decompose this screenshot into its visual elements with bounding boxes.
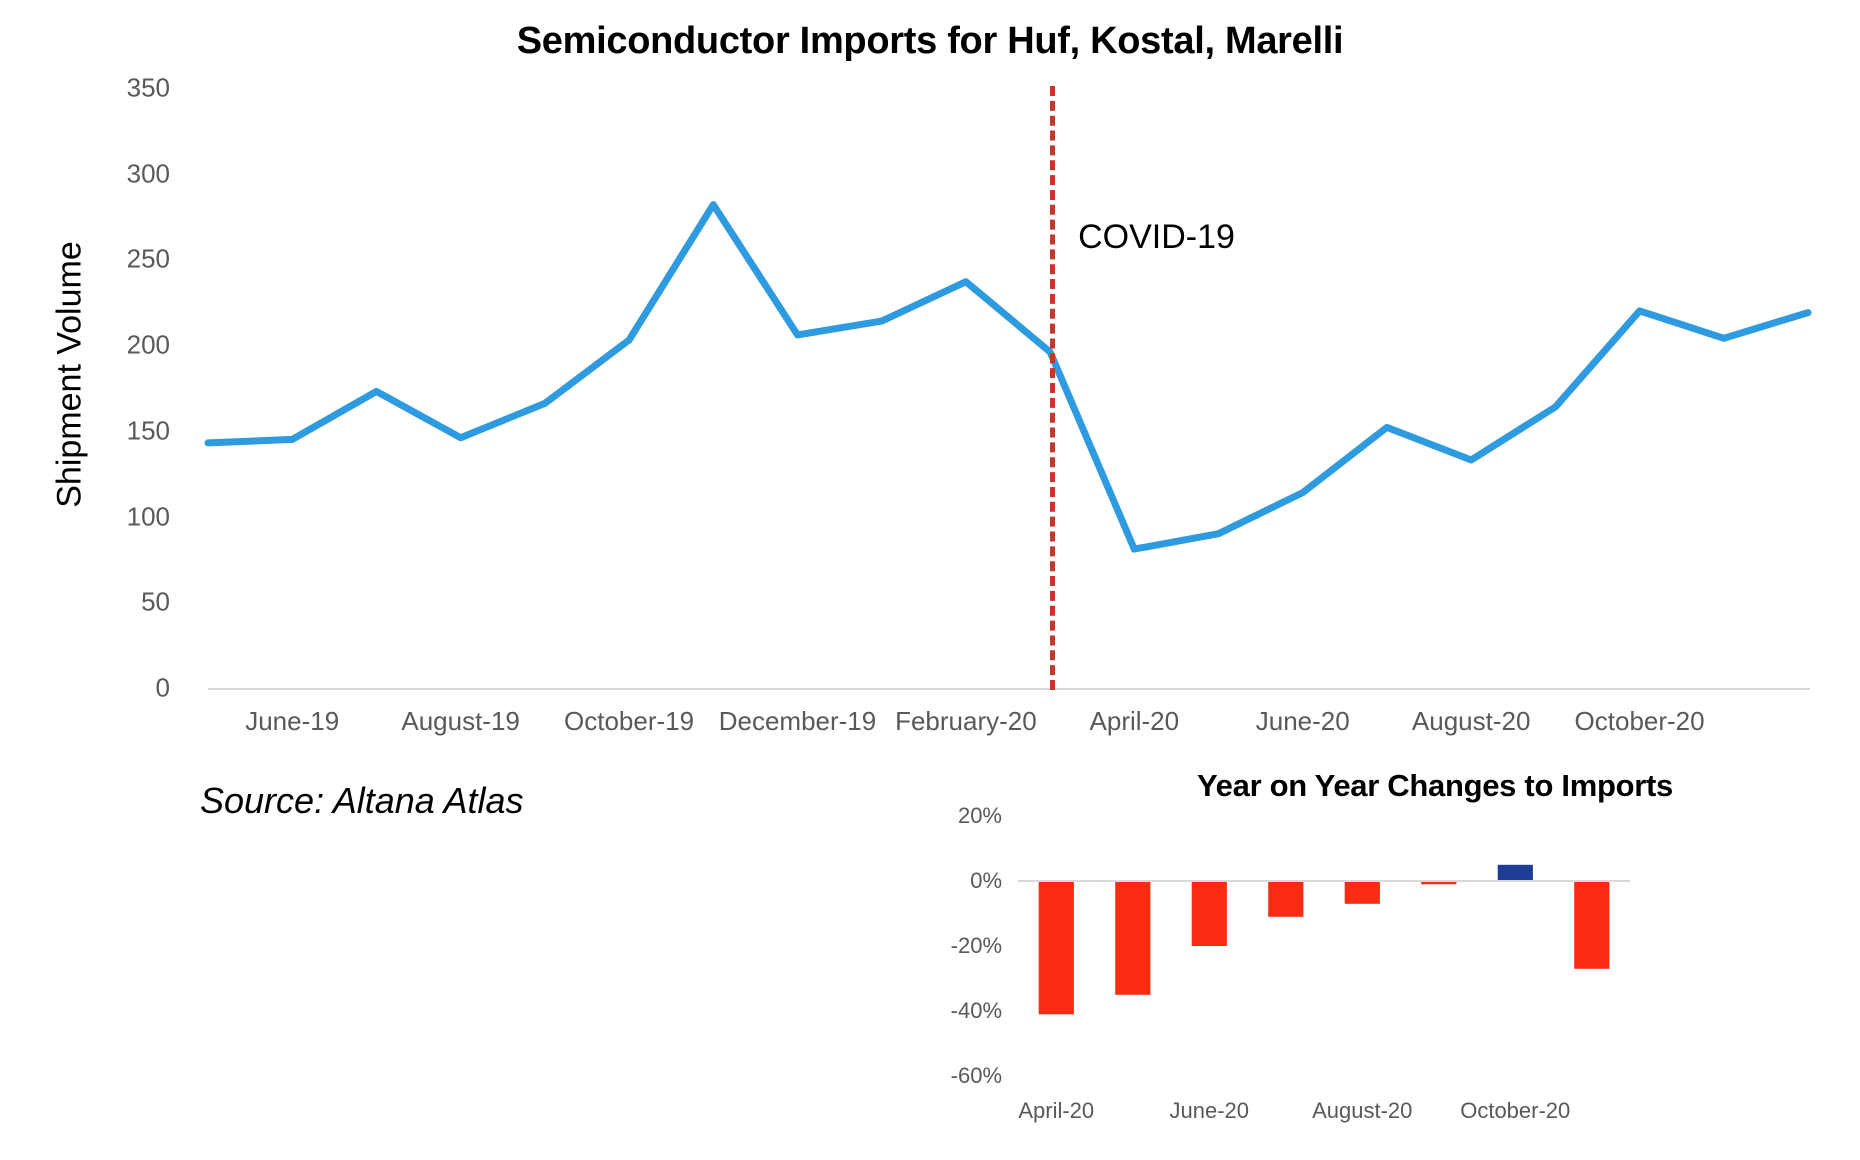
main-y-tick: 250 xyxy=(50,244,170,275)
main-y-tick: 200 xyxy=(50,330,170,361)
main-y-tick: 0 xyxy=(50,673,170,704)
sub-y-tick: 20% xyxy=(892,803,1002,829)
covid-marker-line xyxy=(1050,86,1055,690)
sub-x-tick: October-20 xyxy=(1460,1098,1570,1124)
main-line-svg xyxy=(208,88,1808,688)
main-line-chart: Semiconductor Imports for Huf, Kostal, M… xyxy=(0,0,1860,760)
bar xyxy=(1345,881,1380,904)
main-chart-title: Semiconductor Imports for Huf, Kostal, M… xyxy=(0,20,1860,63)
main-x-tick: August-20 xyxy=(1412,706,1531,737)
main-x-tick: October-19 xyxy=(564,706,694,737)
sub-x-axis-ticks: April-20June-20August-20October-20 xyxy=(1010,1098,1860,1138)
bar xyxy=(1115,881,1150,995)
bar-group xyxy=(1039,865,1610,1015)
sub-bar-svg xyxy=(1018,816,1630,1076)
main-x-tick: June-19 xyxy=(245,706,339,737)
sub-plot-area xyxy=(1018,816,1630,1076)
main-x-tick: June-20 xyxy=(1256,706,1350,737)
source-note: Source: Altana Atlas xyxy=(200,780,524,822)
sub-x-tick: April-20 xyxy=(1018,1098,1094,1124)
shipment-volume-line xyxy=(208,205,1808,549)
main-y-tick: 350 xyxy=(50,73,170,104)
yoy-bar-chart: Year on Year Changes to Imports 20%0%-20… xyxy=(1010,760,1860,1160)
main-y-axis-ticks: 050100150200250300350 xyxy=(20,0,170,760)
main-plot-area xyxy=(208,88,1808,688)
sub-y-tick: 0% xyxy=(892,868,1002,894)
bar xyxy=(1039,881,1074,1014)
sub-y-tick: -20% xyxy=(892,933,1002,959)
main-y-tick: 100 xyxy=(50,501,170,532)
main-x-tick: April-20 xyxy=(1090,706,1180,737)
main-x-tick: December-19 xyxy=(719,706,877,737)
main-x-tick: August-19 xyxy=(401,706,520,737)
bar xyxy=(1574,881,1609,969)
sub-y-axis-ticks: 20%0%-20%-40%-60% xyxy=(882,760,1002,1160)
bar xyxy=(1268,881,1303,917)
sub-y-tick: -40% xyxy=(892,998,1002,1024)
main-x-axis-ticks: June-19August-19October-19December-19Feb… xyxy=(0,706,1860,746)
bar xyxy=(1192,881,1227,946)
main-x-tick: February-20 xyxy=(895,706,1037,737)
main-x-axis-line xyxy=(208,688,1810,690)
covid-annotation-label: COVID-19 xyxy=(1078,218,1235,257)
sub-x-tick: August-20 xyxy=(1312,1098,1412,1124)
sub-x-tick: June-20 xyxy=(1169,1098,1249,1124)
main-y-tick: 50 xyxy=(50,587,170,618)
sub-y-tick: -60% xyxy=(892,1063,1002,1089)
sub-chart-title: Year on Year Changes to Imports xyxy=(1010,768,1860,804)
main-x-tick: October-20 xyxy=(1575,706,1705,737)
bar xyxy=(1498,865,1533,881)
main-y-tick: 150 xyxy=(50,415,170,446)
main-y-tick: 300 xyxy=(50,158,170,189)
